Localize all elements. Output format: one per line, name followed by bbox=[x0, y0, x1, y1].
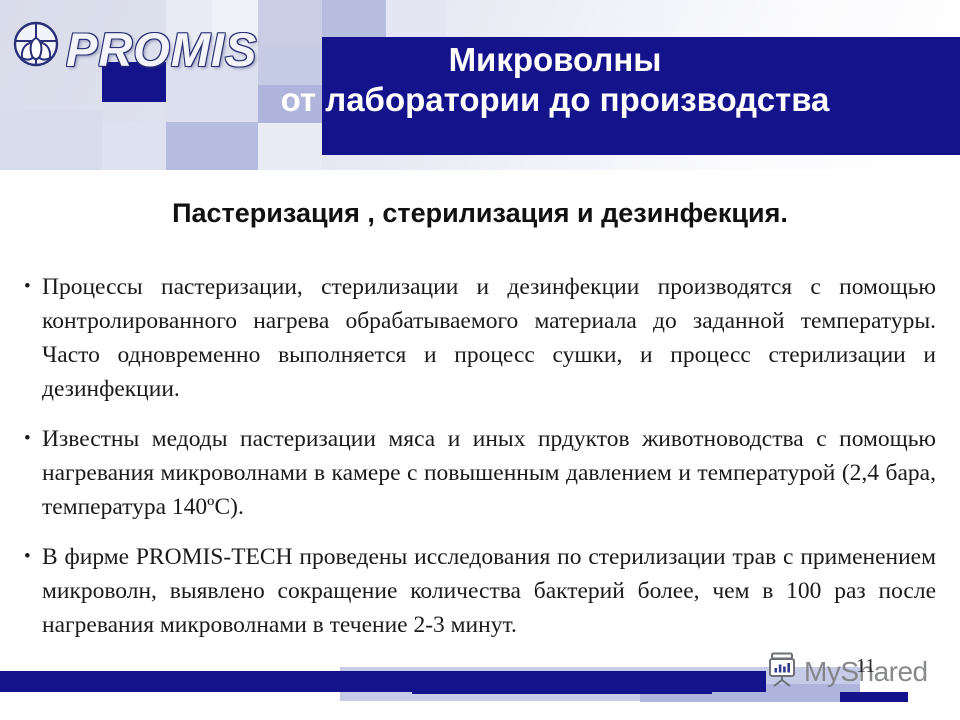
content-subtitle: Пастеризация , стерилизация и дезинфекци… bbox=[0, 198, 960, 229]
footer-bar-underline bbox=[412, 692, 712, 694]
bullet-marker: • bbox=[24, 540, 31, 574]
bullet-text: В фирме PROMIS-TECH проведены исследован… bbox=[42, 544, 936, 638]
bullet-item: • Процессы пастеризации, стерилизации и … bbox=[24, 270, 936, 406]
page-number: 11 bbox=[856, 655, 875, 678]
slide-root: PROMIS Микроволны от лаборатории до прои… bbox=[0, 0, 960, 720]
header-tile bbox=[0, 110, 102, 170]
header-tile bbox=[102, 122, 166, 170]
footer-bar-short bbox=[840, 692, 908, 702]
myshared-watermark: MyShared bbox=[766, 652, 928, 692]
header-tile bbox=[258, 123, 322, 170]
promis-globe-emblem-icon bbox=[10, 18, 62, 70]
projector-screen-icon bbox=[766, 652, 800, 693]
bullet-item: • Известны медоды пастеризации мяса и ин… bbox=[24, 422, 936, 524]
slide-content: Пастеризация , стерилизация и дезинфекци… bbox=[0, 170, 960, 640]
header-tile bbox=[386, 0, 446, 37]
bullet-list: • Процессы пастеризации, стерилизации и … bbox=[24, 270, 936, 658]
bullet-text: Процессы пастеризации, стерилизации и де… bbox=[42, 274, 936, 402]
header-tile bbox=[166, 122, 258, 170]
bullet-text: Известны медоды пастеризации мяса и иных… bbox=[42, 426, 936, 520]
header-title: Микроволны от лаборатории до производств… bbox=[150, 40, 960, 120]
bullet-marker: • bbox=[24, 422, 31, 456]
header-tile bbox=[258, 0, 322, 45]
bullet-marker: • bbox=[24, 270, 31, 304]
header-tile bbox=[322, 0, 386, 37]
footer-bar-accent bbox=[712, 671, 766, 692]
bullet-item: • В фирме PROMIS-TECH проведены исследов… bbox=[24, 540, 936, 642]
slide-header: PROMIS Микроволны от лаборатории до прои… bbox=[0, 0, 960, 170]
footer-bar-main bbox=[0, 671, 766, 692]
